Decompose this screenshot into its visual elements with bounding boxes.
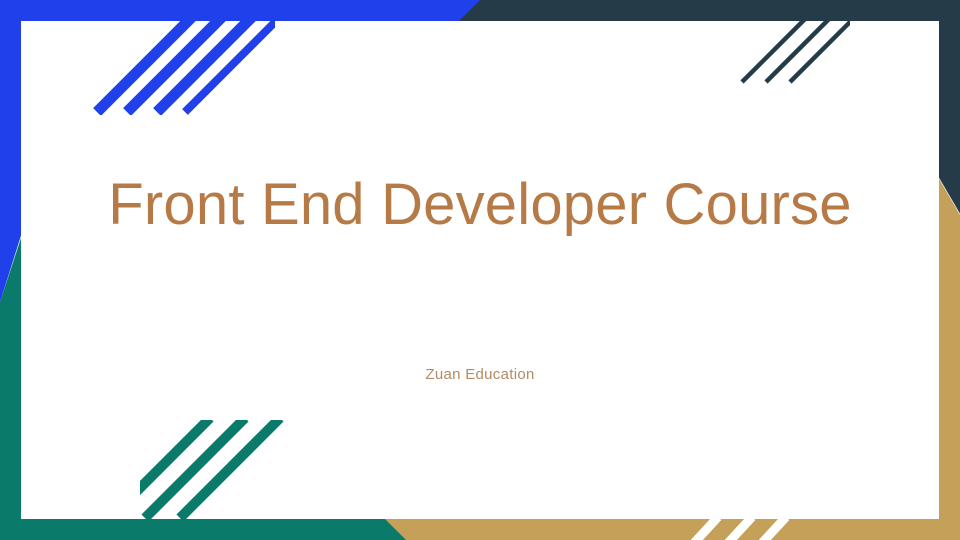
frame-band-right bbox=[939, 0, 960, 540]
frame-band-bottom bbox=[0, 519, 960, 540]
frame-band-left bbox=[0, 0, 21, 540]
diagonal-stripes-bottom-left-icon bbox=[140, 420, 335, 520]
frame-segment-teal-bottom bbox=[0, 519, 430, 540]
diagonal-stripes-top-right-icon bbox=[740, 16, 850, 86]
slide-subtitle: Zuan Education bbox=[60, 366, 900, 383]
slide-title: Front End Developer Course bbox=[60, 172, 900, 239]
frame-segment-blue-top bbox=[0, 0, 480, 21]
title-slide: Front End Developer Course Zuan Educatio… bbox=[0, 0, 960, 540]
frame-band-top bbox=[0, 0, 960, 21]
